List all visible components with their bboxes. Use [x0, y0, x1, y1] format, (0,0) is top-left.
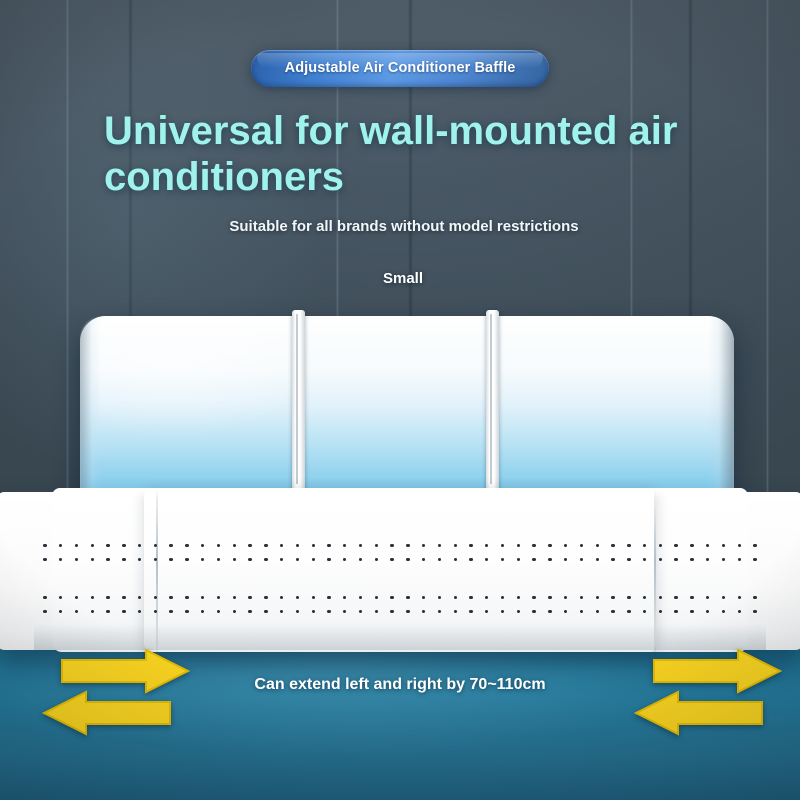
perforation-hole [359, 558, 362, 561]
perforation-hole [532, 544, 535, 547]
perforation-row [0, 610, 800, 618]
perforation-hole [169, 610, 172, 613]
perforation-hole [106, 610, 109, 613]
perforation-hole [296, 558, 299, 561]
perforation-hole [91, 596, 94, 599]
perforation-hole [738, 544, 741, 547]
perforation-hole [611, 558, 614, 561]
perforation-hole [596, 596, 599, 599]
perforation-hole [264, 558, 267, 561]
perforation-hole [517, 544, 520, 547]
perforation-hole [327, 558, 330, 561]
perforation-hole [580, 558, 583, 561]
perforation-hole [469, 596, 472, 599]
perforation-hole [248, 596, 251, 599]
perforation-hole [201, 544, 204, 547]
perforation-hole [343, 596, 346, 599]
perforation-hole [548, 610, 551, 613]
perforation-hole [75, 544, 78, 547]
perforation-hole [548, 544, 551, 547]
perforation-hole [122, 610, 125, 613]
extend-arrows-left [42, 648, 202, 744]
perforation-hole [596, 610, 599, 613]
perforation-hole [390, 544, 393, 547]
perforation-hole [722, 558, 725, 561]
perforation-hole [611, 544, 614, 547]
size-label: Small [0, 270, 800, 287]
perforation-hole [753, 596, 756, 599]
perforation-hole [627, 596, 630, 599]
perforation-hole [706, 610, 709, 613]
perforation-hole [201, 610, 204, 613]
perforation-hole [564, 610, 567, 613]
perforation-hole [122, 596, 125, 599]
perforation-hole [517, 610, 520, 613]
perforation-hole [185, 610, 188, 613]
subheadline: Suitable for all brands without model re… [0, 218, 800, 235]
perforation-hole [706, 596, 709, 599]
perforation-row [0, 544, 800, 552]
perforation-hole [674, 610, 677, 613]
perforation-hole [217, 558, 220, 561]
perforation-hole [422, 596, 425, 599]
perforation-hole [738, 610, 741, 613]
perforation-hole [296, 544, 299, 547]
perforation-hole [264, 610, 267, 613]
perforation-hole [122, 558, 125, 561]
perforation-hole [390, 610, 393, 613]
perforation-hole [580, 544, 583, 547]
baffle-top-highlight [74, 488, 726, 497]
perforation-hole [454, 596, 457, 599]
perforation-hole [217, 596, 220, 599]
perforation-hole [627, 610, 630, 613]
perforation-hole [106, 596, 109, 599]
perforation-hole [406, 596, 409, 599]
perforation-hole [185, 596, 188, 599]
perforation-hole [375, 544, 378, 547]
perforation-hole [375, 610, 378, 613]
perforation-hole [264, 596, 267, 599]
perforation-hole [564, 558, 567, 561]
perforation-hole [185, 558, 188, 561]
perforation-hole [91, 558, 94, 561]
perforation-hole [659, 544, 662, 547]
perforation-hole [454, 558, 457, 561]
perforation-hole [485, 596, 488, 599]
perforation-hole [722, 610, 725, 613]
baffle-perforation-band [0, 544, 800, 574]
perforation-hole [659, 558, 662, 561]
perforation-hole [643, 544, 646, 547]
perforation-hole [690, 558, 693, 561]
perforation-hole [501, 610, 504, 613]
perforation-hole [312, 596, 315, 599]
perforation-hole [343, 558, 346, 561]
perforation-hole [611, 610, 614, 613]
perforation-hole [248, 544, 251, 547]
perforation-hole [548, 596, 551, 599]
perforation-hole [722, 544, 725, 547]
perforation-hole [564, 544, 567, 547]
perforation-hole [532, 610, 535, 613]
perforation-hole [312, 558, 315, 561]
perforation-hole [690, 610, 693, 613]
perforation-hole [643, 596, 646, 599]
perforation-hole [390, 596, 393, 599]
perforation-hole [296, 596, 299, 599]
perforation-hole [548, 558, 551, 561]
perforation-hole [674, 544, 677, 547]
perforation-hole [753, 558, 756, 561]
perforation-hole [75, 558, 78, 561]
perforation-hole [280, 558, 283, 561]
ac-gloss-highlight [98, 326, 398, 506]
perforation-hole [422, 558, 425, 561]
perforation-hole [327, 596, 330, 599]
perforation-hole [201, 596, 204, 599]
perforation-hole [248, 610, 251, 613]
perforation-hole [312, 544, 315, 547]
perforation-hole [674, 558, 677, 561]
perforation-hole [138, 596, 141, 599]
perforation-hole [580, 596, 583, 599]
perforation-hole [406, 610, 409, 613]
perforation-hole [611, 596, 614, 599]
perforation-hole [296, 610, 299, 613]
perforation-hole [406, 558, 409, 561]
perforation-hole [233, 544, 236, 547]
perforation-hole [233, 596, 236, 599]
perforation-hole [422, 544, 425, 547]
perforation-hole [517, 558, 520, 561]
perforation-hole [359, 596, 362, 599]
arrow-left-icon [42, 690, 172, 736]
perforation-hole [59, 558, 62, 561]
perforation-hole [501, 596, 504, 599]
perforation-hole [233, 558, 236, 561]
perforation-hole [406, 544, 409, 547]
perforation-hole [485, 544, 488, 547]
perforation-hole [359, 544, 362, 547]
perforation-hole [738, 558, 741, 561]
perforation-hole [627, 558, 630, 561]
perforation-hole [469, 558, 472, 561]
perforation-hole [753, 544, 756, 547]
perforation-hole [469, 610, 472, 613]
perforation-hole [169, 596, 172, 599]
perforation-hole [59, 596, 62, 599]
perforation-hole [280, 596, 283, 599]
baffle-mounting-clip [486, 310, 499, 500]
perforation-hole [75, 596, 78, 599]
perforation-hole [169, 558, 172, 561]
adjustable-baffle [0, 492, 800, 650]
perforation-hole [485, 558, 488, 561]
perforation-hole [469, 544, 472, 547]
perforation-hole [643, 610, 646, 613]
perforation-hole [596, 558, 599, 561]
perforation-hole [343, 544, 346, 547]
perforation-hole [154, 610, 157, 613]
perforation-hole [75, 610, 78, 613]
perforation-hole [217, 544, 220, 547]
perforation-hole [532, 596, 535, 599]
perforation-hole [532, 558, 535, 561]
perforation-hole [154, 558, 157, 561]
perforation-hole [454, 610, 457, 613]
badge-container: Adjustable Air Conditioner Baffle [0, 50, 800, 87]
product-marketing-image: Adjustable Air Conditioner Baffle Univer… [0, 0, 800, 800]
perforation-hole [738, 596, 741, 599]
perforation-hole [138, 544, 141, 547]
perforation-hole [438, 544, 441, 547]
perforation-hole [106, 558, 109, 561]
perforation-hole [327, 610, 330, 613]
perforation-hole [312, 610, 315, 613]
perforation-hole [390, 558, 393, 561]
perforation-hole [643, 558, 646, 561]
baffle-perforation-band [0, 596, 800, 626]
perforation-hole [343, 610, 346, 613]
baffle-mounting-clip [292, 310, 305, 500]
perforation-hole [43, 596, 46, 599]
perforation-hole [201, 558, 204, 561]
perforation-hole [122, 544, 125, 547]
perforation-hole [501, 558, 504, 561]
perforation-hole [138, 610, 141, 613]
arrow-left-icon [634, 690, 764, 736]
perforation-hole [422, 610, 425, 613]
perforation-hole [43, 544, 46, 547]
perforation-hole [580, 610, 583, 613]
perforation-hole [154, 544, 157, 547]
perforation-hole [438, 596, 441, 599]
perforation-hole [596, 544, 599, 547]
extension-caption: Can extend left and right by 70~110cm [0, 676, 800, 694]
headline: Universal for wall-mounted air condition… [104, 108, 724, 200]
perforation-hole [706, 558, 709, 561]
perforation-hole [327, 544, 330, 547]
perforation-row [0, 558, 800, 566]
product-badge[interactable]: Adjustable Air Conditioner Baffle [251, 50, 550, 87]
perforation-hole [43, 558, 46, 561]
perforation-hole [659, 596, 662, 599]
extend-arrows-right [634, 648, 794, 744]
perforation-hole [485, 610, 488, 613]
perforation-hole [91, 544, 94, 547]
perforation-hole [501, 544, 504, 547]
perforation-hole [59, 610, 62, 613]
perforation-hole [517, 596, 520, 599]
perforation-hole [264, 544, 267, 547]
perforation-hole [169, 544, 172, 547]
perforation-hole [106, 544, 109, 547]
perforation-hole [59, 544, 62, 547]
perforation-hole [43, 610, 46, 613]
ac-top-lip [86, 319, 728, 335]
perforation-hole [375, 596, 378, 599]
perforation-hole [627, 544, 630, 547]
perforation-hole [690, 544, 693, 547]
perforation-hole [359, 610, 362, 613]
perforation-hole [91, 610, 94, 613]
perforation-hole [753, 610, 756, 613]
perforation-hole [674, 596, 677, 599]
perforation-hole [690, 596, 693, 599]
perforation-hole [154, 596, 157, 599]
perforation-hole [280, 610, 283, 613]
perforation-hole [659, 610, 662, 613]
perforation-hole [217, 610, 220, 613]
perforation-hole [233, 610, 236, 613]
perforation-hole [438, 610, 441, 613]
perforation-hole [454, 544, 457, 547]
perforation-hole [564, 596, 567, 599]
perforation-row [0, 596, 800, 604]
perforation-hole [375, 558, 378, 561]
perforation-hole [438, 558, 441, 561]
perforation-hole [280, 544, 283, 547]
perforation-hole [248, 558, 251, 561]
perforation-hole [185, 544, 188, 547]
perforation-hole [138, 558, 141, 561]
perforation-hole [706, 544, 709, 547]
perforation-hole [722, 596, 725, 599]
